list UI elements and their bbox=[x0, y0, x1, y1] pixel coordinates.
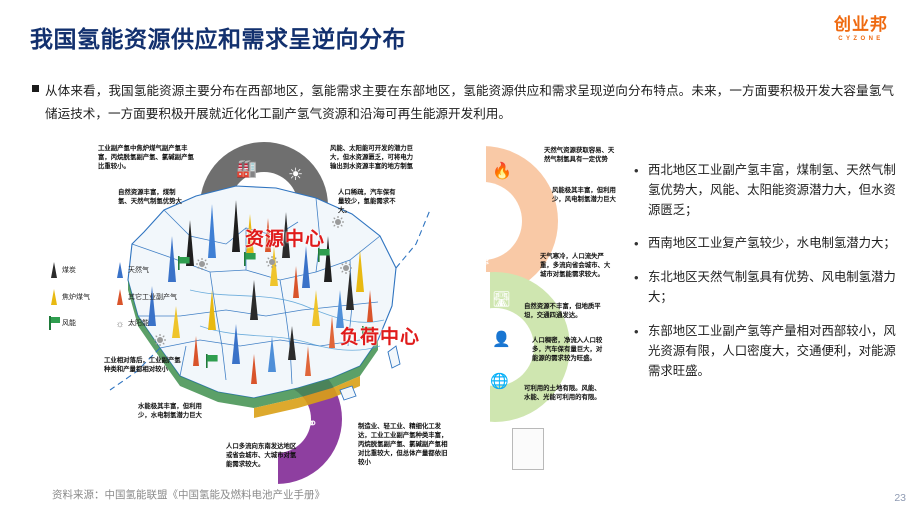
person-plus-icon: 👤 bbox=[492, 332, 511, 347]
note-east-population: 人口稠密，净流入人口较多，汽车保有量巨大，对能源的需求较为旺盛。 bbox=[532, 336, 608, 363]
bullet-dot-icon: • bbox=[634, 160, 648, 220]
note-nw-wind-solar: 风能、太阳能可开发的潜力巨大，但水资源匮乏，可将电力输出到水资源丰富的地方制氢 bbox=[330, 144, 416, 171]
legend-item-coal: 煤炭 bbox=[46, 262, 112, 280]
list-item: • 西南地区工业复产氢较少，水电制氢潜力大； bbox=[634, 233, 906, 254]
bullet-dot-icon: • bbox=[634, 321, 648, 381]
list-item-text: 东北地区天然气制氢具有优势、风电制氢潜力大； bbox=[648, 267, 906, 307]
list-item: • 东部地区工业副产氢等产量相对西部较小，风光资源有限，人口密度大，交通便利，对… bbox=[634, 321, 906, 381]
legend-item-wind: 风能 bbox=[46, 316, 112, 332]
hydrogen-resource-map: 🏭 ☀ 🛒 👤 🔥 ⋮⋮⋮ ❄ 🛣 👤 🌐 ✳ 🔨 〽 ⚭ bbox=[40, 140, 636, 485]
note-sw-hydro: 水能极其丰富，但利用少，水电制氢潜力巨大 bbox=[138, 402, 208, 420]
sun-small-icon: ☼ bbox=[112, 319, 128, 330]
note-east-land: 可利用的土地有限。风能、水能、光能可利用的有限。 bbox=[524, 384, 604, 402]
legend-item-other-byproduct: 其它工业副产气 bbox=[112, 289, 178, 307]
note-se-manufacturing: 制造业、轻工业、精细化工发达，工业工业副产氢种类丰富，丙烷脱氢副产氢、氯碱副产氢… bbox=[358, 422, 450, 467]
note-ne-climate: 天气寒冷，人口流失严重，多流向省会城市、大城市对氢能需求较大。 bbox=[540, 252, 612, 279]
note-east-terrain: 自然资源不丰富，但地质平坦，交通四通发达。 bbox=[524, 302, 604, 320]
legend-row: 风能 ☼ 太阳能 bbox=[46, 316, 178, 332]
cone-yellow-icon bbox=[46, 289, 62, 307]
label-load-center: 负荷中心 bbox=[340, 322, 420, 349]
legend-label: 煤炭 bbox=[62, 267, 76, 276]
label-resource-center: 资源中心 bbox=[245, 224, 325, 251]
flag-green-icon bbox=[46, 316, 62, 332]
brand-logo: 创业邦 CYZONE bbox=[818, 16, 904, 42]
slide: 我国氢能资源供应和需求呈逆向分布 创业邦 CYZONE 从体来看，我国氢能资源主… bbox=[0, 0, 922, 518]
bullet-dot-icon: • bbox=[634, 233, 648, 254]
note-ne-wind: 风能极其丰富，但利用少，风电制氢潜力巨大 bbox=[552, 186, 616, 204]
snowflake-icon: ❄ bbox=[480, 256, 490, 268]
cone-black-icon bbox=[46, 262, 62, 280]
legend-item-solar: ☼ 太阳能 bbox=[112, 319, 178, 330]
page-title: 我国氢能资源供应和需求呈逆向分布 bbox=[30, 20, 406, 54]
source-note: 资料来源：中国氢能联盟《中国氢能及燃料电池产业手册》 bbox=[52, 487, 325, 502]
cone-red-icon bbox=[112, 289, 128, 307]
list-item-text: 西南地区工业复产氢较少，水电制氢潜力大； bbox=[648, 233, 896, 254]
cone-blue-icon bbox=[112, 262, 128, 280]
wind-grid-icon: ⋮⋮⋮ bbox=[488, 210, 527, 222]
note-nw-resource: 自然资源丰富，煤制氢、天然气制氢优势大 bbox=[118, 188, 186, 206]
list-item-text: 西北地区工业副产氢丰富，煤制氢、天然气制氢优势大，风能、太阳能资源潜力大，但水资… bbox=[648, 160, 906, 220]
regional-summary-list: • 西北地区工业副产氢丰富，煤制氢、天然气制氢优势大，风能、太阳能资源潜力大，但… bbox=[634, 160, 906, 394]
intro-paragraph: 从体来看，我国氢能资源主要分布在西部地区，氢能需求主要在东部地区，氢能资源供应和… bbox=[32, 80, 894, 127]
legend-label: 其它工业副产气 bbox=[128, 294, 177, 303]
page-number: 23 bbox=[894, 492, 906, 504]
note-nw-population: 人口稀疏，汽车保有量较少，氢能需求不大。 bbox=[338, 188, 400, 215]
logo-text-cn: 创业邦 bbox=[818, 16, 904, 33]
legend-label: 天然气 bbox=[128, 267, 149, 276]
note-ne-gas: 天然气资源获取容易、天然气制氢具有一定优势 bbox=[544, 146, 616, 164]
legend-label: 焦炉煤气 bbox=[62, 294, 90, 303]
note-nw-byproduct: 工业副产氢中焦炉煤气副产氢丰富，丙烷脱氢副产氢、氯碱副产氢比重较小。 bbox=[98, 144, 194, 171]
intro-text: 从体来看，我国氢能资源主要分布在西部地区，氢能需求主要在东部地区，氢能资源供应和… bbox=[45, 80, 894, 127]
list-item: • 西北地区工业副产氢丰富，煤制氢、天然气制氢优势大，风能、太阳能资源潜力大，但… bbox=[634, 160, 906, 220]
road-icon: 🛣 bbox=[492, 292, 511, 307]
legend-item-coke-oven-gas: 焦炉煤气 bbox=[46, 289, 112, 307]
note-sw-population: 人口多流向东南发达地区或省会城市、大城市对氢能需求较大。 bbox=[226, 442, 300, 469]
legend-label: 太阳能 bbox=[128, 320, 149, 329]
square-bullet-icon bbox=[32, 80, 45, 127]
list-item-text: 东部地区工业副产氢等产量相对西部较小，风光资源有限，人口密度大，交通便利，对能源… bbox=[648, 321, 906, 381]
legend-item-natural-gas: 天然气 bbox=[112, 262, 178, 280]
bullet-dot-icon: • bbox=[634, 267, 648, 307]
map-legend: 煤炭 天然气 焦炉煤气 其它工业副产气 bbox=[46, 262, 178, 341]
legend-row: 煤炭 天然气 bbox=[46, 262, 178, 280]
flame-icon: 🔥 bbox=[492, 164, 512, 180]
globe-icon: 🌐 bbox=[490, 374, 509, 389]
legend-label: 风能 bbox=[62, 320, 76, 329]
logo-text-en: CYZONE bbox=[818, 36, 904, 42]
legend-row: 焦炉煤气 其它工业副产气 bbox=[46, 289, 178, 307]
note-sw-industry: 工业相对落后，工业副产氢种类和产量都相对较小 bbox=[104, 356, 182, 374]
molecule-icon: ⚭ bbox=[306, 416, 318, 430]
map-inset-thumbnail bbox=[512, 428, 544, 470]
gear-icon: ✳ bbox=[452, 402, 463, 415]
list-item: • 东北地区天然气制氢具有优势、风电制氢潜力大； bbox=[634, 267, 906, 307]
